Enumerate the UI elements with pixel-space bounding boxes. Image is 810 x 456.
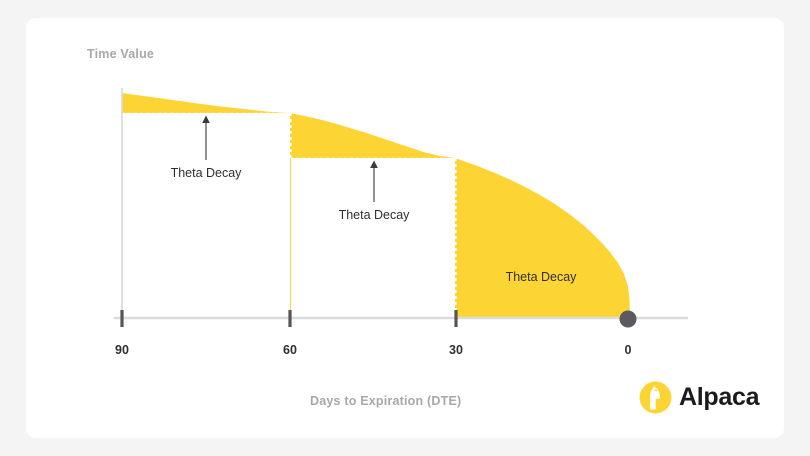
annotation-arrow-1 [202, 116, 210, 161]
origin-dot [620, 311, 637, 328]
x-tick-label-90: 90 [115, 343, 129, 357]
alpaca-icon [639, 381, 672, 414]
x-tick-label-60: 60 [283, 343, 297, 357]
theta-decay-band-1 [122, 93, 290, 113]
x-tick-label-30: 30 [449, 343, 463, 357]
theta-decay-band-2 [290, 113, 455, 158]
x-axis-title: Days to Expiration (DTE) [310, 394, 461, 408]
alpaca-logo: Alpaca [639, 378, 764, 416]
x-tick-label-0: 0 [625, 343, 632, 357]
alpaca-wordmark: Alpaca [679, 385, 759, 410]
y-axis-title: Time Value [87, 47, 154, 61]
annotation-arrow-2 [370, 161, 378, 203]
annotation-theta-decay-3: Theta Decay [506, 270, 577, 284]
annotation-theta-decay-1: Theta Decay [171, 166, 242, 180]
theta-decay-band-3 [455, 158, 630, 318]
annotation-theta-decay-2: Theta Decay [339, 208, 410, 222]
